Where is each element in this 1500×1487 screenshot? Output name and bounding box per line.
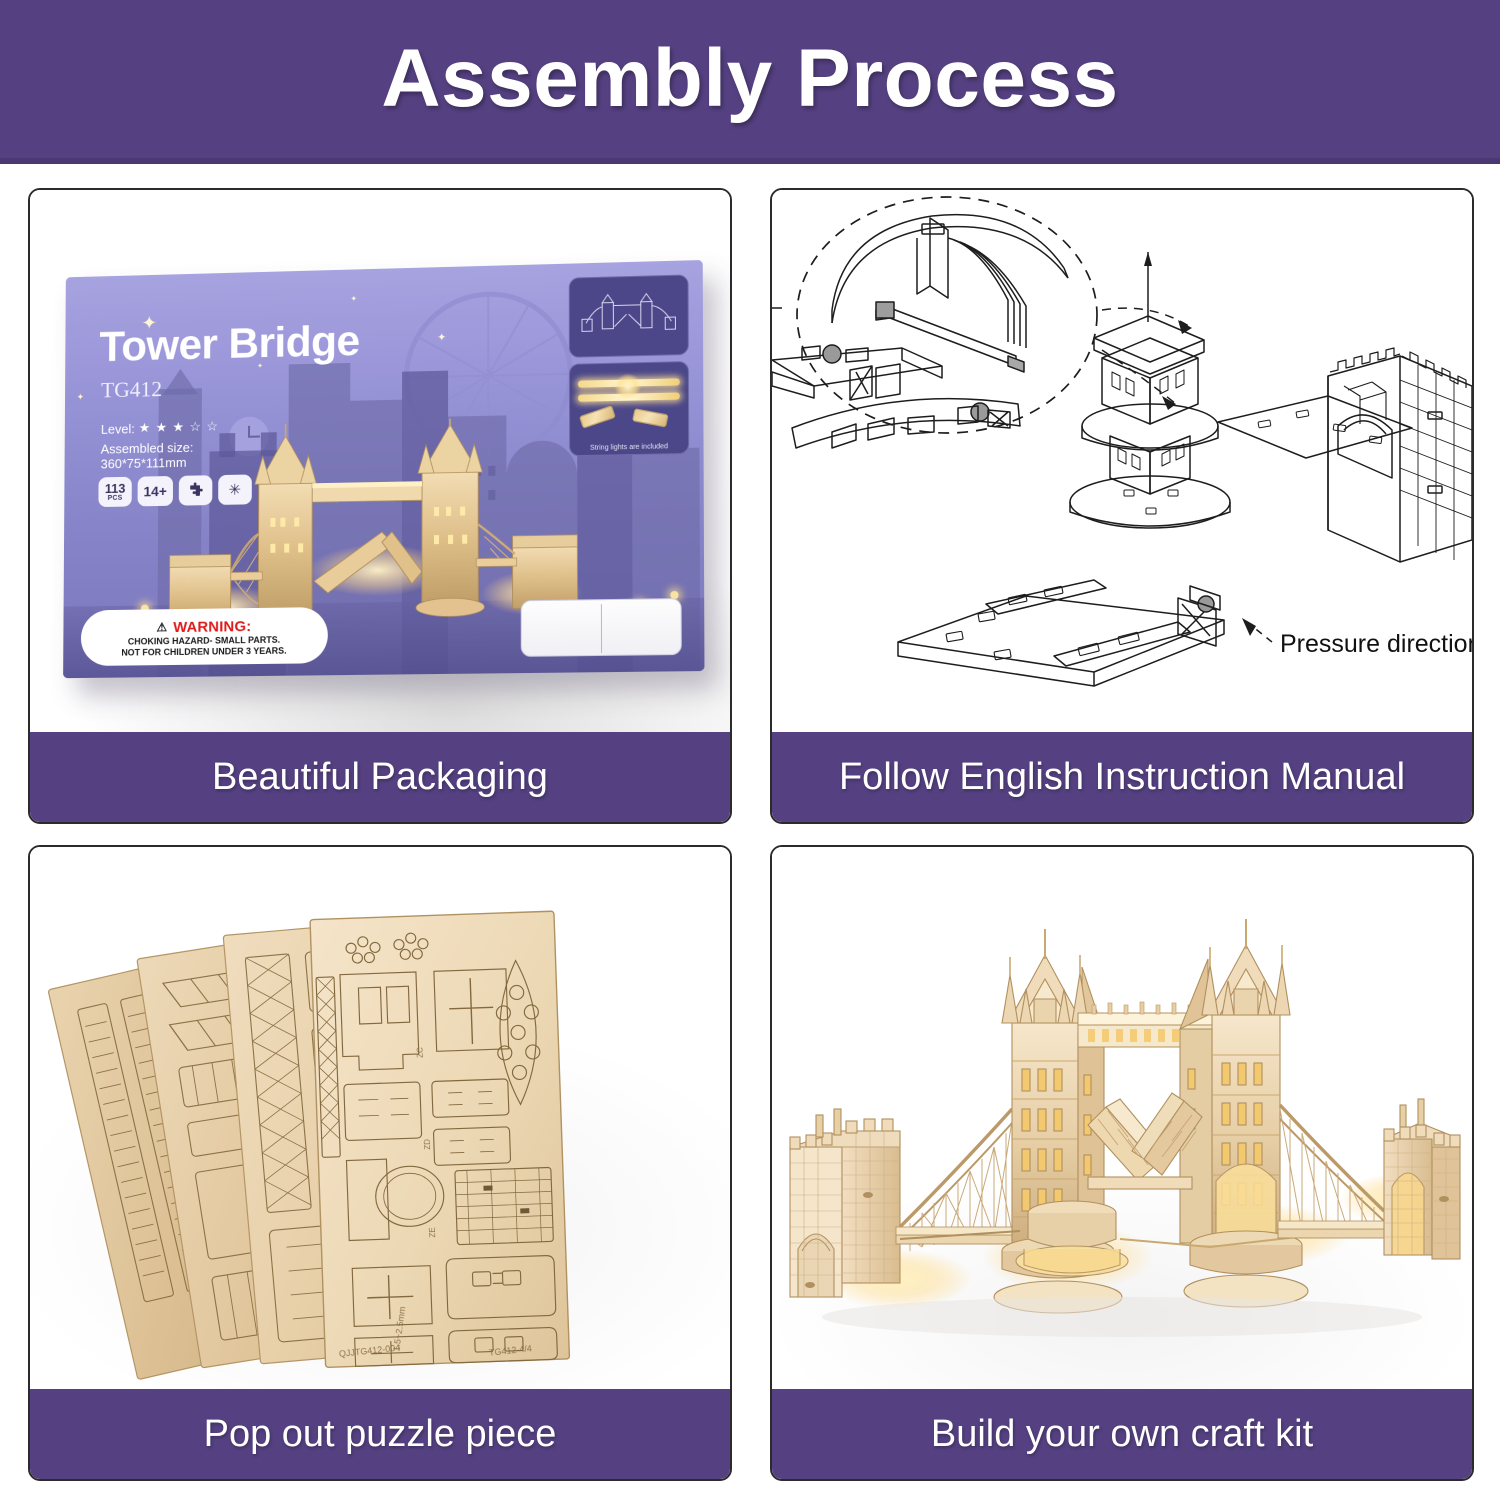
pieces-badge: 113 PCS [98, 477, 131, 507]
caption-label: Beautiful Packaging [212, 756, 548, 799]
svg-text:ZC: ZC [416, 1047, 425, 1058]
caption-bar-model: Build your own craft kit [772, 1389, 1472, 1479]
packaging-scene: ✦ ✦ ✦ ✦ ✦ [30, 190, 730, 736]
mini-bridge-icon [578, 291, 680, 338]
inset-unlit-bridge [569, 274, 689, 357]
level-label: Level: [101, 421, 135, 437]
caption-label: Pop out puzzle piece [204, 1413, 557, 1456]
pressure-direction-label: Pressure direction [1280, 630, 1472, 658]
assembled-size-value: 360*75*111mm [101, 455, 187, 472]
svg-text:ZD: ZD [423, 1139, 432, 1150]
panel-beautiful-packaging: ✦ ✦ ✦ ✦ ✦ [28, 188, 732, 824]
page-title: Assembly Process [381, 32, 1118, 126]
header-banner: Assembly Process [0, 0, 1500, 158]
inset-caption: String lights are included [570, 443, 688, 452]
package-level: Level: ★ ★ ★ ☆ ☆ [101, 419, 219, 437]
inset-string-lights: String lights are included [569, 361, 689, 456]
package-badges: 113 PCS 14+ ✳ [98, 474, 251, 507]
star-icon: ✦ [77, 393, 84, 402]
model-scene [772, 847, 1472, 1393]
product-box: ✦ ✦ ✦ ✦ ✦ [63, 260, 704, 678]
age-badge: 14+ [138, 476, 173, 506]
package-sku: TG412 [101, 376, 162, 403]
caption-bar-puzzle: Pop out puzzle piece [30, 1389, 730, 1479]
package-window-label [521, 598, 682, 657]
manual-scene: Pressure direction [772, 190, 1472, 736]
warning-heading: WARNING: [173, 618, 251, 636]
package-title: Tower Bridge [99, 317, 359, 372]
package-assembled-size: Assembled size:360*75*111mm [101, 440, 194, 472]
caption-bar-packaging: Beautiful Packaging [30, 732, 730, 822]
packaging-photo: ✦ ✦ ✦ ✦ ✦ [30, 190, 730, 736]
svg-text:ZE: ZE [428, 1227, 437, 1238]
puzzle-sheets-photo: QJJTG412-004 1.5~2.5mm TG412-4/4 ZC ZD Z… [30, 847, 730, 1393]
warning-label: ⚠ WARNING: CHOKING HAZARD- SMALL PARTS. … [81, 607, 328, 666]
star-icon: ✦ [350, 295, 357, 303]
tower-bridge-model-illustration [772, 847, 1472, 1393]
panel-finished-model: Build your own craft kit [770, 845, 1474, 1481]
panel-instruction-manual: Pressure direction Follow English Instru… [770, 188, 1474, 824]
plywood-sheets-illustration: QJJTG412-004 1.5~2.5mm TG412-4/4 ZC ZD Z… [30, 847, 730, 1393]
puzzle-piece-icon [179, 475, 213, 505]
finished-model-photo [772, 847, 1472, 1393]
sheets-scene: QJJTG412-004 1.5~2.5mm TG412-4/4 ZC ZD Z… [30, 847, 730, 1393]
infographic-page: Assembly Process ✦ ✦ ✦ ✦ ✦ [0, 0, 1500, 1487]
string-light-icon: ✳ [218, 474, 252, 504]
level-stars: ★ ★ ★ ☆ ☆ [139, 419, 219, 437]
panel-pop-out-puzzle: QJJTG412-004 1.5~2.5mm TG412-4/4 ZC ZD Z… [28, 845, 732, 1481]
caption-label: Build your own craft kit [931, 1413, 1313, 1456]
warning-heading-row: ⚠ WARNING: [156, 618, 251, 636]
manual-diagram: Pressure direction [772, 190, 1472, 736]
header-underline [0, 158, 1500, 164]
caption-label: Follow English Instruction Manual [839, 756, 1405, 799]
warning-body: CHOKING HAZARD- SMALL PARTS. NOT FOR CHI… [121, 634, 286, 658]
warning-triangle-icon: ⚠ [156, 620, 167, 634]
assembly-line-art: Pressure direction [772, 190, 1472, 736]
caption-bar-manual: Follow English Instruction Manual [772, 732, 1472, 822]
